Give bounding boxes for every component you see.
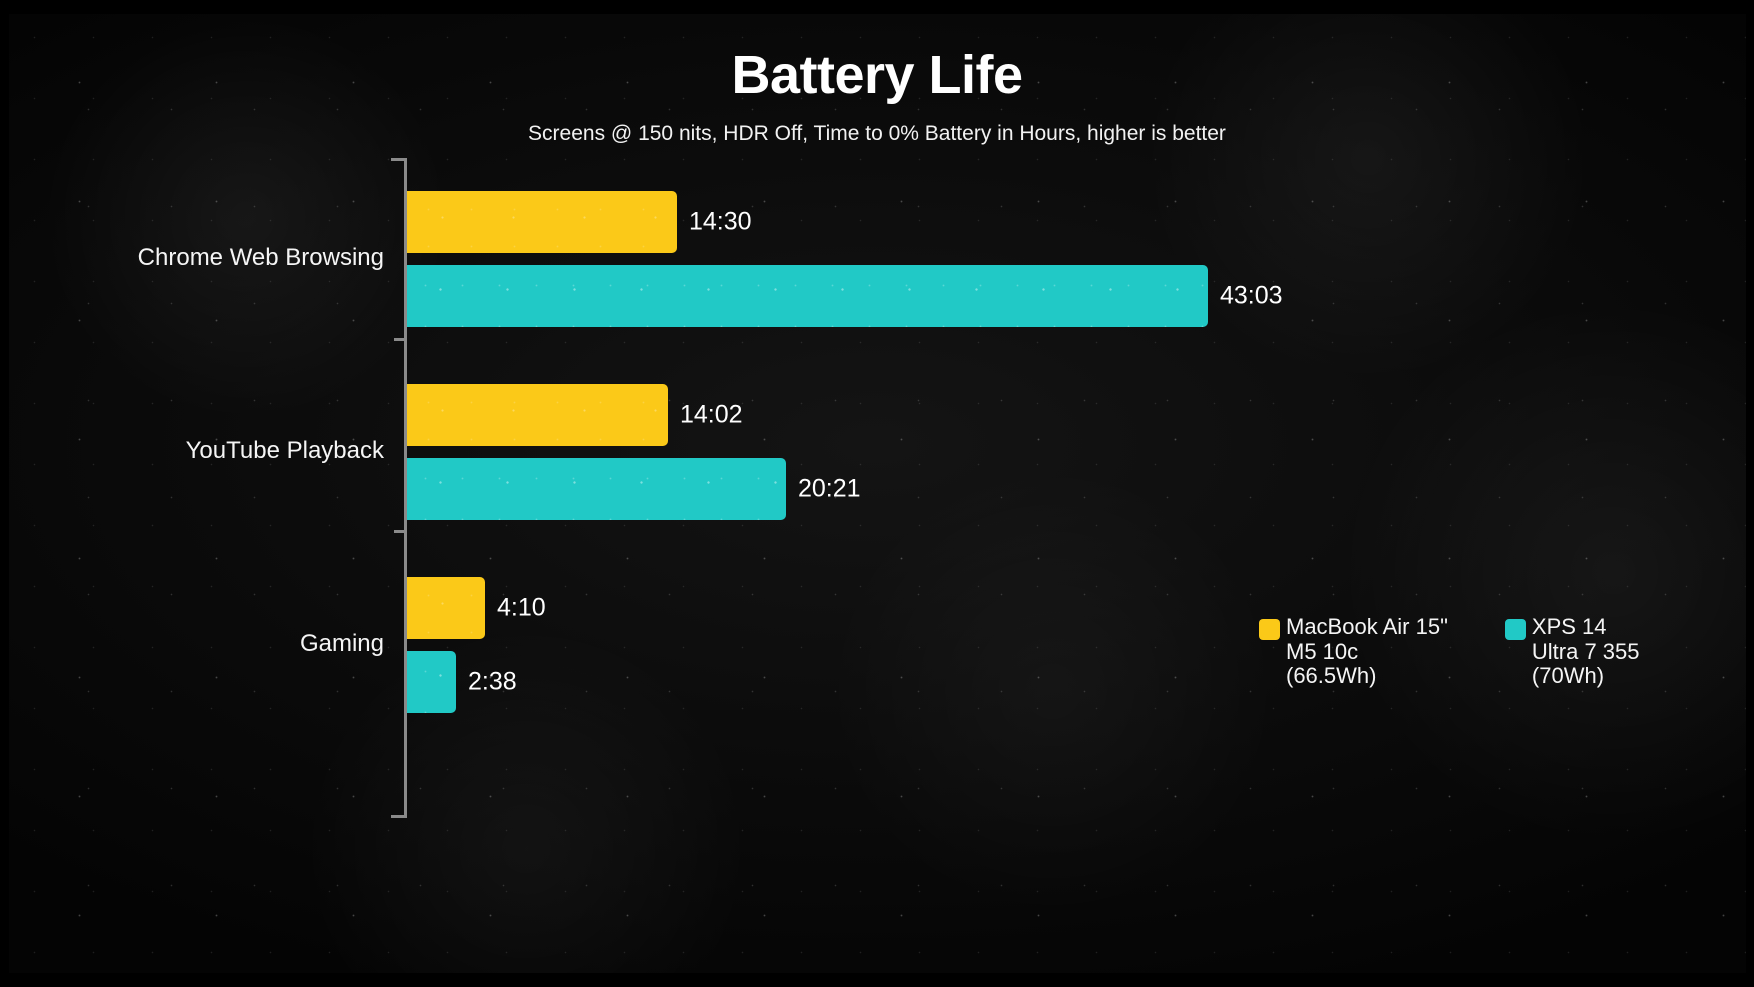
bar-chrome-xps[interactable] xyxy=(407,265,1208,327)
letterbox-top xyxy=(0,0,1754,14)
chart-legend: MacBook Air 15" M5 10c (66.5Wh) XPS 14 U… xyxy=(1259,615,1640,689)
bar-value-gaming-xps: 2:38 xyxy=(468,668,517,697)
category-label-youtube-playback: YouTube Playback xyxy=(186,437,384,465)
axis-cap-bottom xyxy=(391,815,407,818)
chart-canvas: Battery Life Screens @ 150 nits, HDR Off… xyxy=(0,0,1754,987)
bar-youtube-xps[interactable] xyxy=(407,458,786,520)
bar-youtube-macbook[interactable] xyxy=(407,384,668,446)
legend-swatch-xps-14 xyxy=(1505,619,1526,640)
bar-group-chrome-web-browsing: Chrome Web Browsing 14:30 43:03 xyxy=(0,181,1754,341)
legend-label-line3: (66.5Wh) xyxy=(1286,664,1448,689)
legend-text-macbook-air: MacBook Air 15" M5 10c (66.5Wh) xyxy=(1286,615,1448,689)
chart-subtitle: Screens @ 150 nits, HDR Off, Time to 0% … xyxy=(0,122,1754,146)
legend-text-xps-14: XPS 14 Ultra 7 355 (70Wh) xyxy=(1532,615,1640,689)
legend-label-line1: MacBook Air 15" xyxy=(1286,615,1448,640)
bar-value-youtube-xps: 20:21 xyxy=(798,475,861,504)
bar-group-youtube-playback: YouTube Playback 14:02 20:21 xyxy=(0,374,1754,534)
legend-item-xps-14[interactable]: XPS 14 Ultra 7 355 (70Wh) xyxy=(1505,615,1640,689)
legend-label-line2: M5 10c xyxy=(1286,640,1448,665)
legend-item-macbook-air[interactable]: MacBook Air 15" M5 10c (66.5Wh) xyxy=(1259,615,1448,689)
bar-value-gaming-macbook: 4:10 xyxy=(497,594,546,623)
letterbox-right xyxy=(1746,0,1754,987)
bar-value-chrome-xps: 43:03 xyxy=(1220,282,1283,311)
legend-label-line3: (70Wh) xyxy=(1532,664,1640,689)
category-label-gaming: Gaming xyxy=(300,630,384,658)
plot-area: Chrome Web Browsing 14:30 43:03 YouTube … xyxy=(0,155,1754,855)
legend-swatch-macbook-air xyxy=(1259,619,1280,640)
bar-chrome-macbook[interactable] xyxy=(407,191,677,253)
letterbox-left xyxy=(0,0,9,987)
bar-gaming-macbook[interactable] xyxy=(407,577,485,639)
bar-value-youtube-macbook: 14:02 xyxy=(680,401,743,430)
page-title: Battery Life xyxy=(0,44,1754,106)
axis-cap-top xyxy=(391,158,407,161)
category-label-chrome-web-browsing: Chrome Web Browsing xyxy=(138,244,384,272)
bar-value-chrome-macbook: 14:30 xyxy=(689,208,752,237)
legend-label-line1: XPS 14 xyxy=(1532,615,1640,640)
bar-gaming-xps[interactable] xyxy=(407,651,456,713)
legend-label-line2: Ultra 7 355 xyxy=(1532,640,1640,665)
letterbox-bottom xyxy=(0,973,1754,987)
